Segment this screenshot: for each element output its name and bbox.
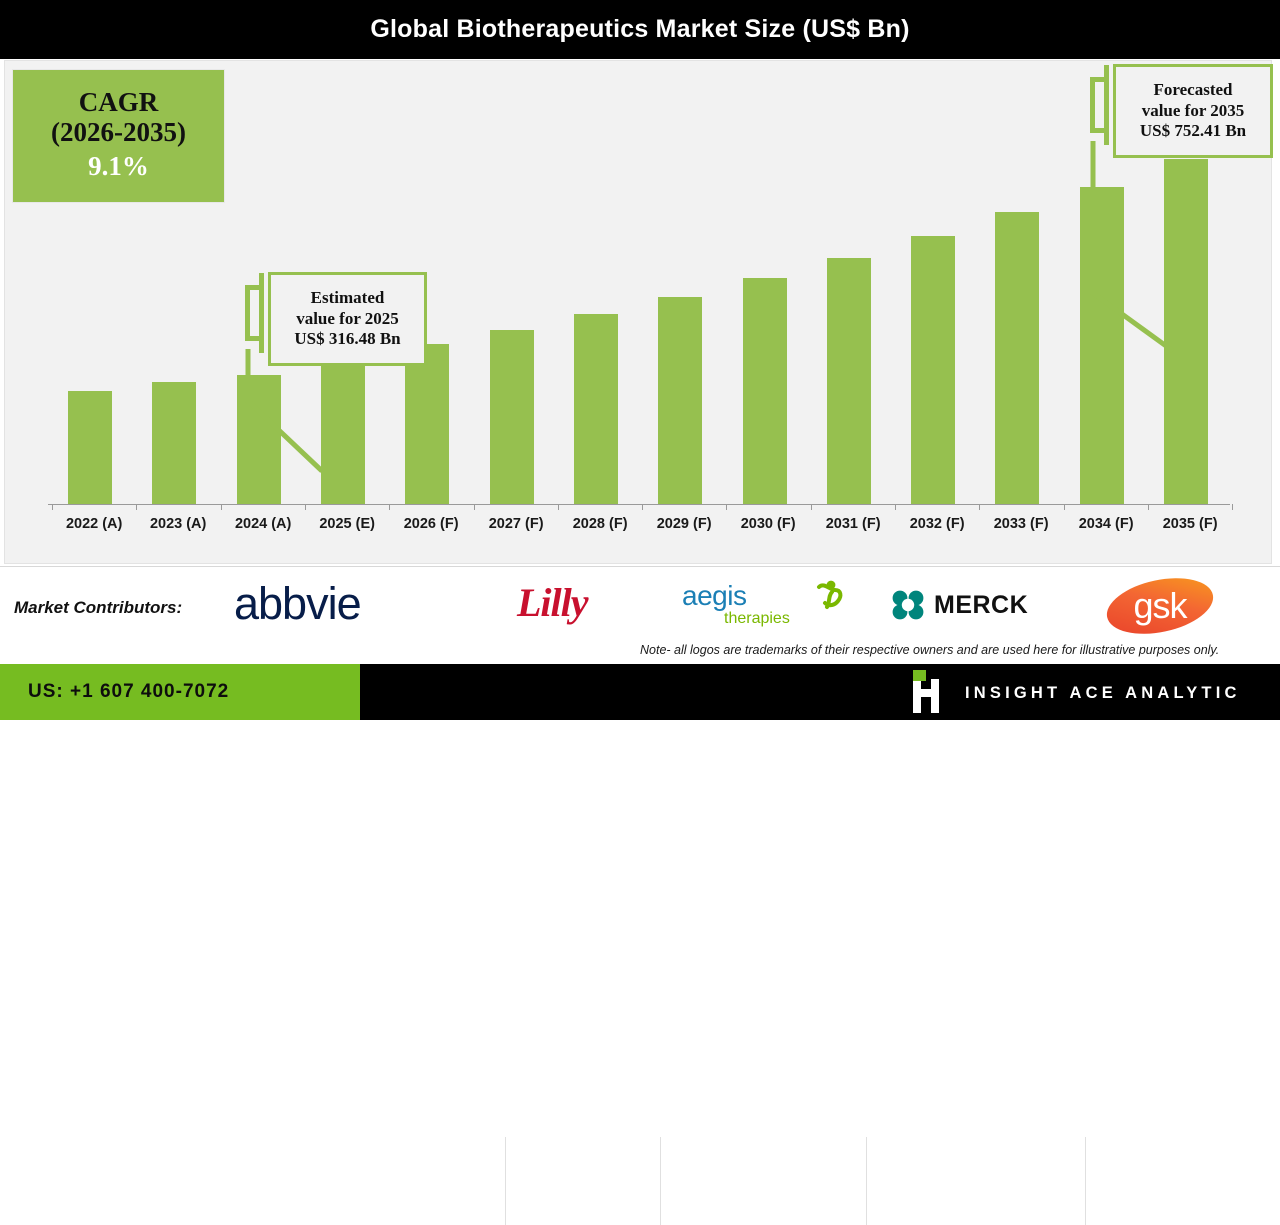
abbvie-logo: abbvie: [234, 580, 434, 626]
x-label-2023A: 2023 (A): [136, 516, 220, 532]
x-label-2027F: 2027 (F): [474, 516, 558, 532]
x-label-2025E: 2025 (E): [305, 516, 389, 532]
aegis-figure-icon: [811, 578, 845, 612]
cagr-title: CAGR: [79, 88, 159, 116]
callout-line-3: US$ 316.48 Bn: [294, 329, 400, 350]
title-bar: Global Biotherapeutics Market Size (US$ …: [0, 0, 1280, 59]
lilly-wordmark: Lilly: [517, 583, 588, 623]
logo-divider: [866, 1137, 867, 1225]
aegis-wordmark: aegis: [682, 582, 746, 610]
logo-divider: [505, 1137, 506, 1225]
callout-estimated-2025: Estimated value for 2025 US$ 316.48 Bn: [268, 272, 427, 366]
x-label-2030F: 2030 (F): [726, 516, 810, 532]
gsk-logo: gsk: [1104, 578, 1216, 634]
lilly-logo: Lilly: [517, 578, 627, 628]
bar-2035F: [1164, 159, 1208, 504]
logo-divider: [1085, 1137, 1086, 1225]
cagr-period: (2026-2035): [51, 116, 186, 150]
x-label-2024A: 2024 (A): [221, 516, 305, 532]
callout-line-2: value for 2025: [296, 309, 399, 330]
x-label-2032F: 2032 (F): [895, 516, 979, 532]
x-axis-line: [48, 504, 1230, 505]
x-label-2022A: 2022 (A): [52, 516, 136, 532]
footer-phone-number[interactable]: US: +1 607 400-7072: [28, 681, 229, 703]
bar-2023A: [152, 382, 196, 504]
abbvie-wordmark: abbvie: [234, 581, 361, 626]
brand-lockup: INSIGHT ACE ANALYTIC: [905, 674, 1241, 712]
callout-line-1: Estimated: [311, 288, 385, 309]
aegis-therapies-logo: aegis therapies: [682, 582, 847, 634]
bar-2032F: [911, 236, 955, 504]
brand-letter-a-icon: [905, 673, 947, 713]
x-label-2031F: 2031 (F): [811, 516, 895, 532]
aegis-subwordmark: therapies: [724, 611, 790, 627]
bar-2028F: [574, 314, 618, 504]
merck-clover-icon: [890, 587, 926, 623]
logo-divider: [660, 1137, 661, 1225]
trademark-note: Note- all logos are trademarks of their …: [640, 643, 1276, 659]
bar-2030F: [743, 278, 787, 504]
callout-line-2: value for 2035: [1142, 101, 1245, 122]
x-label-2029F: 2029 (F): [642, 516, 726, 532]
bar-2027F: [490, 330, 534, 504]
x-label-2035F: 2035 (F): [1148, 516, 1232, 532]
merck-logo: MERCK: [890, 586, 1030, 624]
cagr-badge: CAGR (2026-2035) 9.1%: [13, 70, 224, 202]
bar-2022A: [68, 391, 112, 504]
callout-line-1: Forecasted: [1154, 80, 1233, 101]
footer-bar: US: +1 607 400-7072 INSIGHT ACE ANALYTIC: [0, 664, 1280, 720]
gsk-wordmark: gsk: [1133, 588, 1186, 624]
insight-ace-a-logo-icon: [905, 673, 947, 713]
bar-2034F: [1080, 187, 1124, 504]
callout-line-3: US$ 752.41 Bn: [1140, 121, 1246, 142]
callout-forecasted-2035: Forecasted value for 2035 US$ 752.41 Bn: [1113, 64, 1273, 158]
x-label-2026F: 2026 (F): [389, 516, 473, 532]
x-axis-labels: 2022 (A)2023 (A)2024 (A)2025 (E)2026 (F)…: [5, 510, 1273, 550]
market-contributors-label: Market Contributors:: [14, 598, 182, 618]
bar-2033F: [995, 212, 1039, 504]
brand-name: INSIGHT ACE ANALYTIC: [965, 684, 1241, 703]
bar-2024A: [237, 375, 281, 504]
merck-wordmark: MERCK: [934, 591, 1028, 620]
bar-2025E: [321, 359, 365, 504]
bar-2026F: [405, 344, 449, 504]
x-label-2034F: 2034 (F): [1064, 516, 1148, 532]
page-title: Global Biotherapeutics Market Size (US$ …: [370, 15, 909, 44]
cagr-value: 9.1%: [88, 150, 149, 184]
bar-2029F: [658, 297, 702, 504]
brand-green-square-icon: [913, 670, 926, 681]
x-label-2033F: 2033 (F): [979, 516, 1063, 532]
bar-2031F: [827, 258, 871, 504]
x-label-2028F: 2028 (F): [558, 516, 642, 532]
